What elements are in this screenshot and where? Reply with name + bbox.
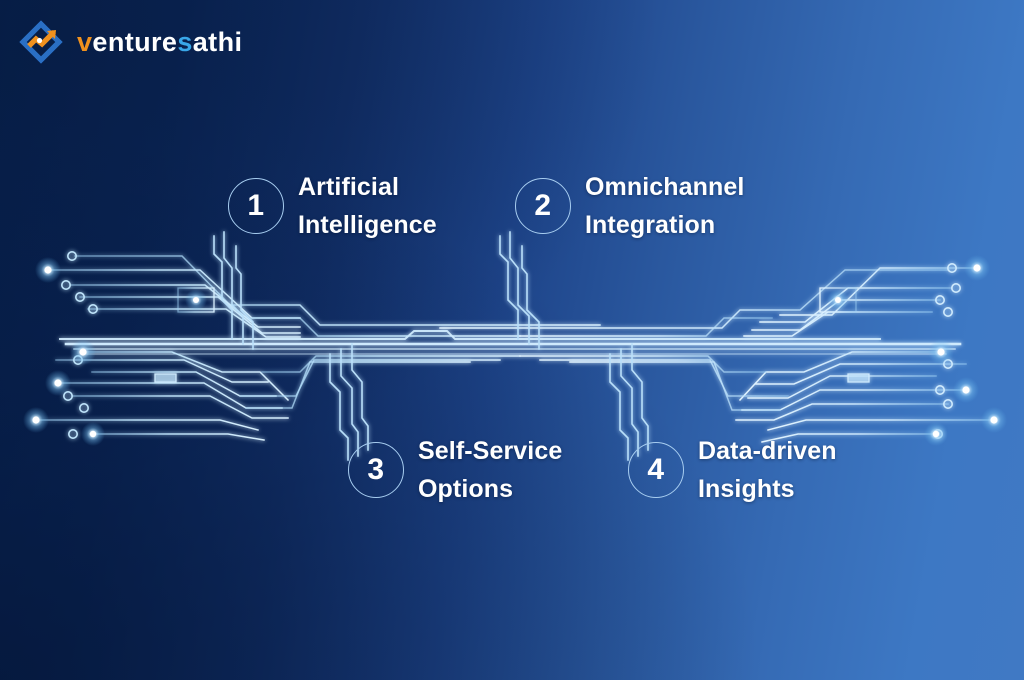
node-2-label: Omnichannel Integration xyxy=(585,168,744,244)
circuit-glow-nodes xyxy=(23,255,1007,446)
brand-wordmark: venturesathi xyxy=(77,29,242,56)
circuit-board-graphic xyxy=(0,0,1024,680)
diagram-node-2[interactable]: 2 Omnichannel Integration xyxy=(515,168,744,244)
node-4-label: Data-driven Insights xyxy=(698,432,837,508)
node-1-number: 1 xyxy=(247,191,264,221)
node-1-number-circle: 1 xyxy=(228,178,284,234)
wordmark-s: s xyxy=(177,27,192,57)
node-1-label: Artificial Intelligence xyxy=(298,168,437,244)
infographic-canvas: venturesathi 1 Artificial Intelligence 2… xyxy=(0,0,1024,680)
node-2-number: 2 xyxy=(534,191,551,221)
node-3-number-circle: 3 xyxy=(348,442,404,498)
venturesathi-chevron-arrow-logo-icon xyxy=(18,18,66,66)
diagram-node-1[interactable]: 1 Artificial Intelligence xyxy=(228,168,437,244)
node-4-number-circle: 4 xyxy=(628,442,684,498)
wordmark-athi: athi xyxy=(193,27,243,57)
wordmark-v: v xyxy=(77,27,92,57)
node-3-number: 3 xyxy=(367,455,384,485)
diagram-node-3[interactable]: 3 Self-Service Options xyxy=(348,432,562,508)
node-4-number: 4 xyxy=(647,455,664,485)
node-2-number-circle: 2 xyxy=(515,178,571,234)
diagram-node-4[interactable]: 4 Data-driven Insights xyxy=(628,432,837,508)
node-3-label: Self-Service Options xyxy=(418,432,562,508)
brand-logo[interactable]: venturesathi xyxy=(18,18,242,66)
wordmark-enture: enture xyxy=(92,27,177,57)
